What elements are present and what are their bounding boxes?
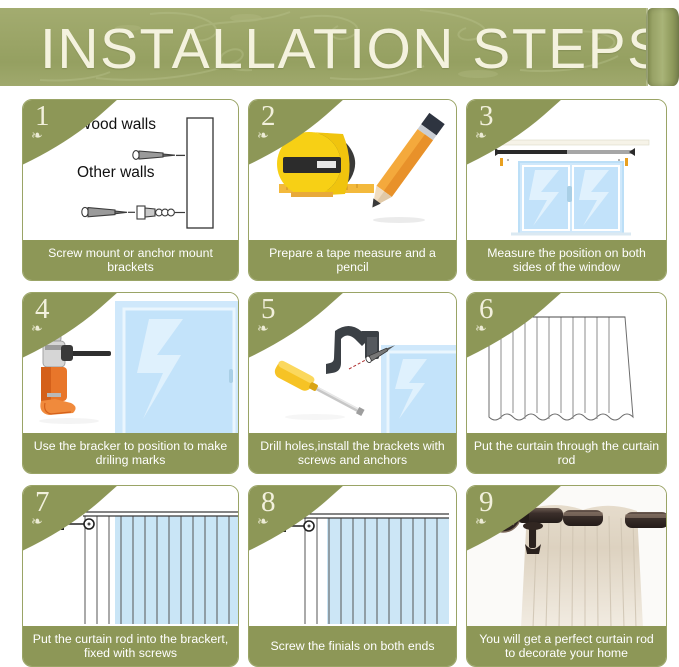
step-3-illustration (467, 100, 666, 242)
tape-measure-and-pencil-drawing (249, 100, 456, 242)
step-card-4[interactable]: 4 ❧ Use the bracker to position to make … (22, 292, 239, 474)
step-4-illustration (23, 293, 238, 435)
banner-scroll-roll (646, 8, 679, 86)
step-1-label-wood-walls: Wood walls (77, 116, 156, 134)
step-8-caption: Screw the finials on both ends (249, 626, 456, 666)
step-1-label-other-walls: Other walls (77, 164, 155, 182)
step-5-illustration (249, 293, 456, 435)
step-5-caption: Drill holes,install the brackets with sc… (249, 433, 456, 473)
header-banner: INSTALLATION STEPS (0, 8, 679, 86)
step-card-1[interactable]: Wood walls Other walls 1 ❧ Screw mount o… (22, 99, 239, 281)
step-6-caption: Put the curtain through the curtain rod (467, 433, 666, 473)
drill-and-window-drawing (23, 293, 238, 435)
banner-body: INSTALLATION STEPS (0, 8, 648, 86)
page-title: INSTALLATION STEPS (40, 12, 648, 86)
step-card-2[interactable]: 2 ❧ Prepare a tape measure and a pencil (248, 99, 457, 281)
step-2-caption: Prepare a tape measure and a pencil (249, 240, 456, 280)
step-9-illustration (467, 486, 666, 628)
measure-window-drawing (467, 100, 666, 242)
step-card-8[interactable]: 8 ❧ Screw the finials on both ends (248, 485, 457, 667)
step-card-5[interactable]: 5 ❧ Drill holes,install the brackets wit… (248, 292, 457, 474)
step-card-3[interactable]: 3 ❧ Measure the position on both sides o… (466, 99, 667, 281)
step-2-illustration (249, 100, 456, 242)
step-7-illustration (23, 486, 238, 628)
steps-grid: Wood walls Other walls 1 ❧ Screw mount o… (22, 99, 658, 667)
step-8-illustration (249, 486, 456, 628)
finished-curtain-photo (467, 486, 666, 628)
step-9-caption: You will get a perfect curtain rod to de… (467, 626, 666, 666)
step-card-9[interactable]: 9 ❧ You will get a perfect curtain rod t… (466, 485, 667, 667)
step-card-6[interactable]: 6 ❧ Put the curtain through the curtain … (466, 292, 667, 474)
step-6-illustration (467, 293, 666, 435)
step-1-caption: Screw mount or anchor mount brackets (23, 240, 238, 280)
step-4-caption: Use the bracker to position to make dril… (23, 433, 238, 473)
step-7-caption: Put the curtain rod into the brackert, f… (23, 626, 238, 666)
screwdriver-bracket-drawing (249, 293, 456, 435)
curtain-finials-drawing (249, 486, 456, 628)
step-1-illustration: Wood walls Other walls (23, 100, 238, 242)
curtain-outline-drawing (467, 293, 666, 435)
step-card-7[interactable]: 7 ❧ Put the curtain rod into the bracker… (22, 485, 239, 667)
step-3-caption: Measure the position on both sides of th… (467, 240, 666, 280)
curtain-on-rod-drawing (23, 486, 238, 628)
